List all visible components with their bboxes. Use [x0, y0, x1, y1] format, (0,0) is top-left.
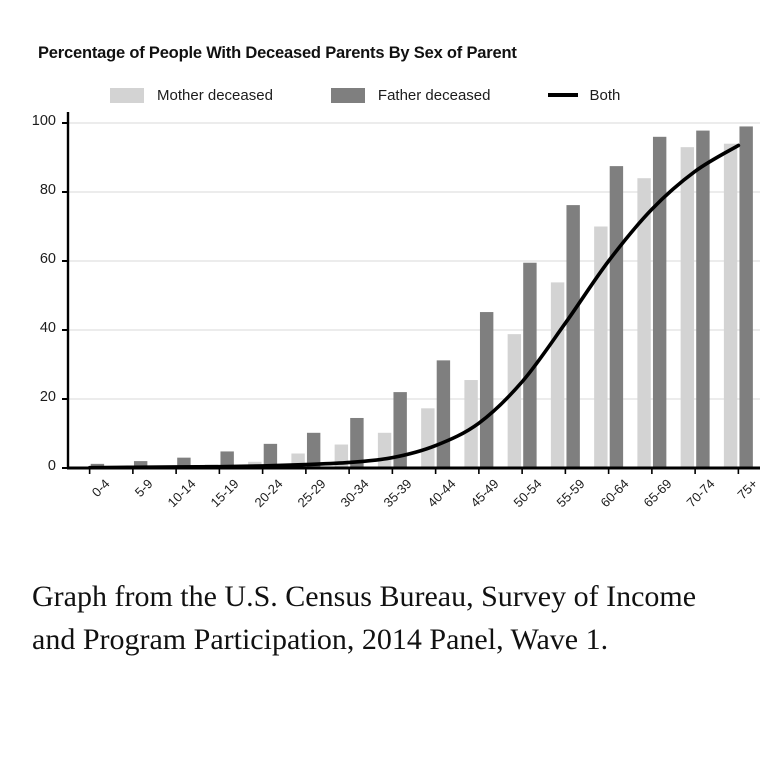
x-axis-labels: 0-45-910-1415-1920-2425-2930-3435-3940-4…	[0, 470, 768, 540]
bar-father-60-64	[610, 166, 623, 468]
bar-father-45-49	[480, 312, 493, 468]
chart-legend: Mother deceased Father deceased Both	[110, 84, 620, 106]
legend-item-both: Both	[548, 87, 620, 104]
y-tick-20: 20	[16, 389, 56, 405]
bar-mother-35-39	[378, 433, 391, 468]
y-tick-100: 100	[16, 113, 56, 129]
y-tick-60: 60	[16, 251, 56, 267]
bar-father-70-74	[696, 131, 709, 468]
chart-figure: Percentage of People With Deceased Paren…	[0, 0, 768, 545]
figure-caption: Graph from the U.S. Census Bureau, Surve…	[32, 575, 738, 661]
legend-label-both: Both	[589, 87, 620, 104]
bar-mother-55-59	[551, 282, 564, 468]
chart-title: Percentage of People With Deceased Paren…	[38, 44, 517, 63]
bar-father-75+	[739, 126, 752, 468]
plot-area	[0, 110, 768, 482]
legend-item-mother: Mother deceased	[110, 87, 273, 104]
legend-label-mother: Mother deceased	[157, 87, 273, 104]
bar-father-55-59	[566, 205, 579, 468]
bar-mother-70-74	[681, 147, 694, 468]
legend-item-father: Father deceased	[331, 87, 491, 104]
chart-canvas	[0, 110, 768, 482]
legend-swatch-father-icon	[331, 88, 365, 103]
legend-label-father: Father deceased	[378, 87, 491, 104]
legend-swatch-mother-icon	[110, 88, 144, 103]
bar-mother-75+	[724, 144, 737, 468]
legend-line-both-icon	[548, 93, 578, 97]
y-tick-80: 80	[16, 182, 56, 198]
y-tick-40: 40	[16, 320, 56, 336]
bar-father-65-69	[653, 137, 666, 468]
bar-father-40-44	[437, 360, 450, 468]
bar-mother-40-44	[421, 408, 434, 468]
bar-mother-50-54	[508, 334, 521, 468]
